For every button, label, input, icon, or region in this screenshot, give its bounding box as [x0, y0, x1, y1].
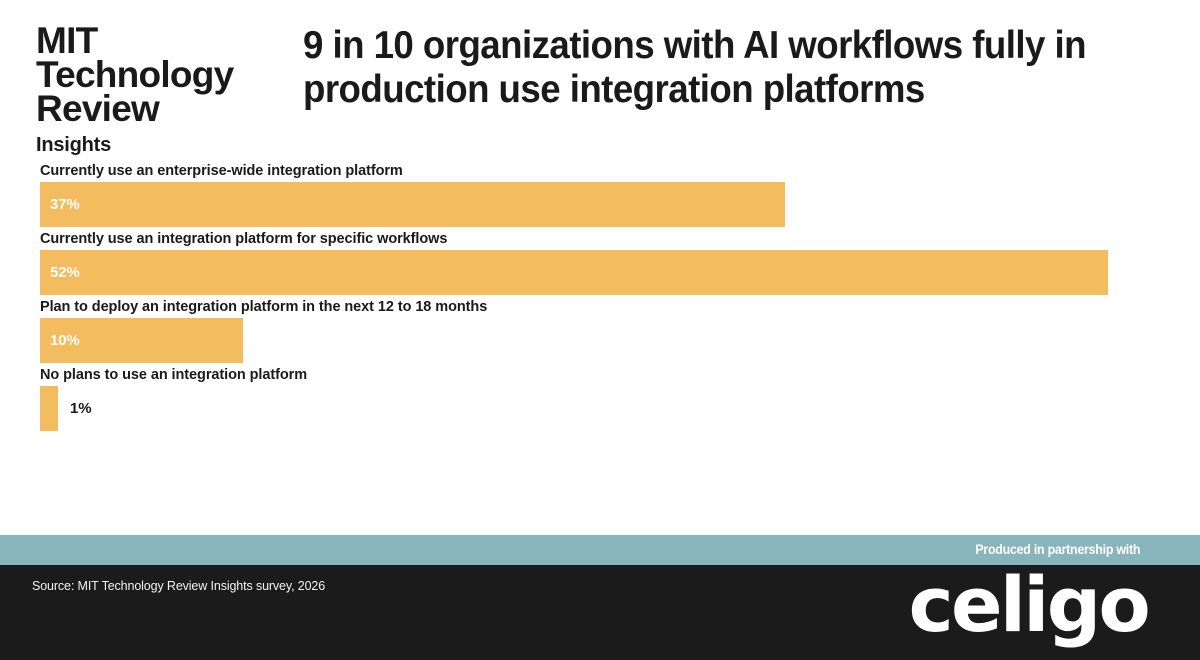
bar-fill: 10% [40, 318, 243, 363]
bar-track: 37% [40, 182, 1200, 228]
bar-group: Plan to deploy an integration platform i… [0, 296, 1200, 364]
bar-category-label: No plans to use an integration platform [0, 364, 1200, 386]
bar-category-label: Currently use an enterprise-wide integra… [0, 160, 1200, 182]
bar-category-label: Plan to deploy an integration platform i… [0, 296, 1200, 318]
bar-value-label: 1% [70, 386, 91, 431]
bar-track: 1% [40, 386, 1200, 432]
footer-band: Source: MIT Technology Review Insights s… [0, 565, 1200, 660]
infographic-root: MIT Technology Review Insights 9 in 10 o… [0, 0, 1200, 660]
bar-group: No plans to use an integration platform … [0, 364, 1200, 432]
source-note: Source: MIT Technology Review Insights s… [32, 579, 325, 593]
bar-value-label: 52% [40, 264, 80, 281]
bar-fill: 37% [40, 182, 785, 227]
celigo-partner-logo: celigo [909, 567, 1148, 643]
bar-category-label: Currently use an integration platform fo… [0, 228, 1200, 250]
mit-technology-review-insights-logo: MIT Technology Review Insights [36, 24, 281, 157]
bar-chart: Currently use an enterprise-wide integra… [0, 160, 1200, 535]
bar-fill [40, 386, 58, 431]
bar-track: 10% [40, 318, 1200, 364]
logo-line-technology: Technology [36, 58, 281, 92]
logo-line-insights: Insights [36, 134, 281, 157]
bar-group: Currently use an enterprise-wide integra… [0, 160, 1200, 228]
bar-value-label: 37% [40, 196, 80, 213]
bar-value-label: 10% [40, 332, 80, 349]
page-title: 9 in 10 organizations with AI workflows … [303, 24, 1121, 113]
header: MIT Technology Review Insights 9 in 10 o… [0, 0, 1200, 160]
bar-fill: 52% [40, 250, 1108, 295]
bar-group: Currently use an integration platform fo… [0, 228, 1200, 296]
bar-track: 52% [40, 250, 1200, 296]
logo-line-review: Review [36, 92, 281, 126]
logo-line-mit: MIT [36, 24, 281, 58]
